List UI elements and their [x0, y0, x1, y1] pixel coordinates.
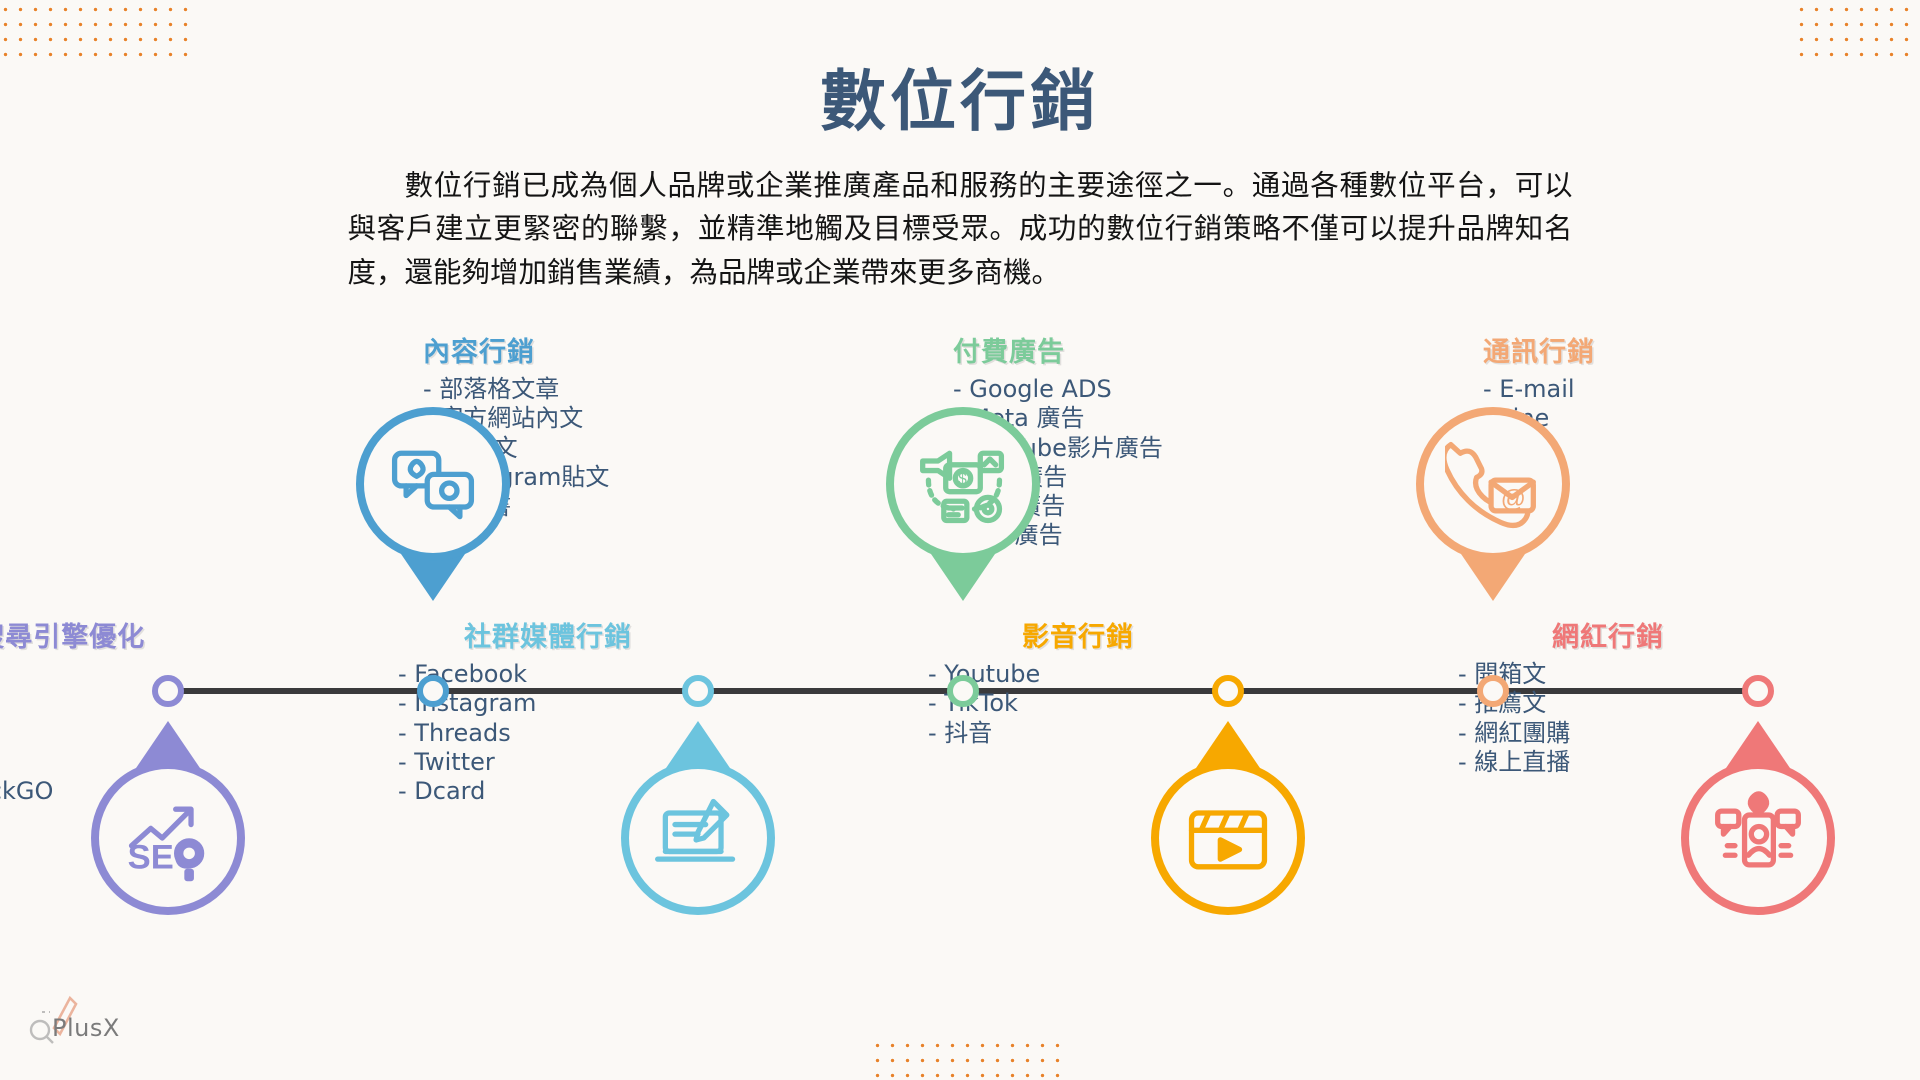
node-title-video: 影音行銷: [928, 615, 1228, 654]
node-title-content: 內容行銷: [423, 330, 723, 369]
pin-video: [1151, 721, 1305, 915]
intro-paragraph: 數位行銷已成為個人品牌或企業推廣產品和服務的主要途徑之一。通過各種數位平台，可以…: [348, 164, 1573, 294]
timeline-marker-social: [682, 675, 714, 707]
node-title-messaging: 通訊行銷: [1483, 330, 1783, 369]
messaging-phone-email-icon: @: [1416, 407, 1570, 561]
timeline-marker-messaging: [1477, 675, 1509, 707]
pin-messaging: @: [1416, 407, 1570, 601]
timeline-marker-paid: [947, 675, 979, 707]
list-item: Threads: [398, 719, 698, 748]
list-item: E-mail: [1483, 375, 1783, 404]
node-title-paid: 付費廣告: [953, 330, 1253, 369]
list-item: 部落格文章: [423, 375, 723, 404]
social-laptop-pen-icon: [621, 761, 775, 915]
svg-text:@: @: [1501, 485, 1526, 513]
page-title: 數位行銷: [0, 68, 1920, 134]
timeline-marker-video: [1212, 675, 1244, 707]
timeline-marker-content: [417, 675, 449, 707]
list-item: Google ADS: [953, 375, 1253, 404]
list-item: Google: [0, 660, 178, 689]
header: 數位行銷 數位行銷已成為個人品牌或企業推廣產品和服務的主要途徑之一。通過各種數位…: [0, 0, 1920, 294]
timeline: SEO SEO搜尋引擎優化GoogleYahooBingBaiduDuckDuc…: [0, 385, 1920, 995]
watermark-label: PlusX: [52, 1014, 120, 1042]
node-title-influencer: 網紅行銷: [1458, 615, 1758, 654]
video-play-clapper-icon: [1151, 761, 1305, 915]
list-item: 線上直播: [1458, 748, 1758, 777]
node-title-seo: SEO搜尋引擎優化: [0, 615, 178, 654]
paid-ads-megaphone-icon: $: [886, 407, 1040, 561]
node-title-social: 社群媒體行銷: [398, 615, 698, 654]
seo-chart-magnifier-icon: SEO: [91, 761, 245, 915]
list-item: 抖音: [928, 719, 1228, 748]
content-chat-bubbles-icon: [356, 407, 510, 561]
list-item: 網紅團購: [1458, 719, 1758, 748]
svg-text:$: $: [958, 471, 967, 488]
pin-content: [356, 407, 510, 601]
pin-paid: $: [886, 407, 1040, 601]
timeline-marker-influencer: [1742, 675, 1774, 707]
list-item: Twitter: [398, 748, 698, 777]
node-list-video: YoutubeTikTok抖音: [928, 660, 1228, 748]
dot-pattern-bottom: [870, 1038, 1060, 1078]
timeline-marker-seo: [152, 675, 184, 707]
influencer-phone-hearts-icon: [1681, 761, 1835, 915]
